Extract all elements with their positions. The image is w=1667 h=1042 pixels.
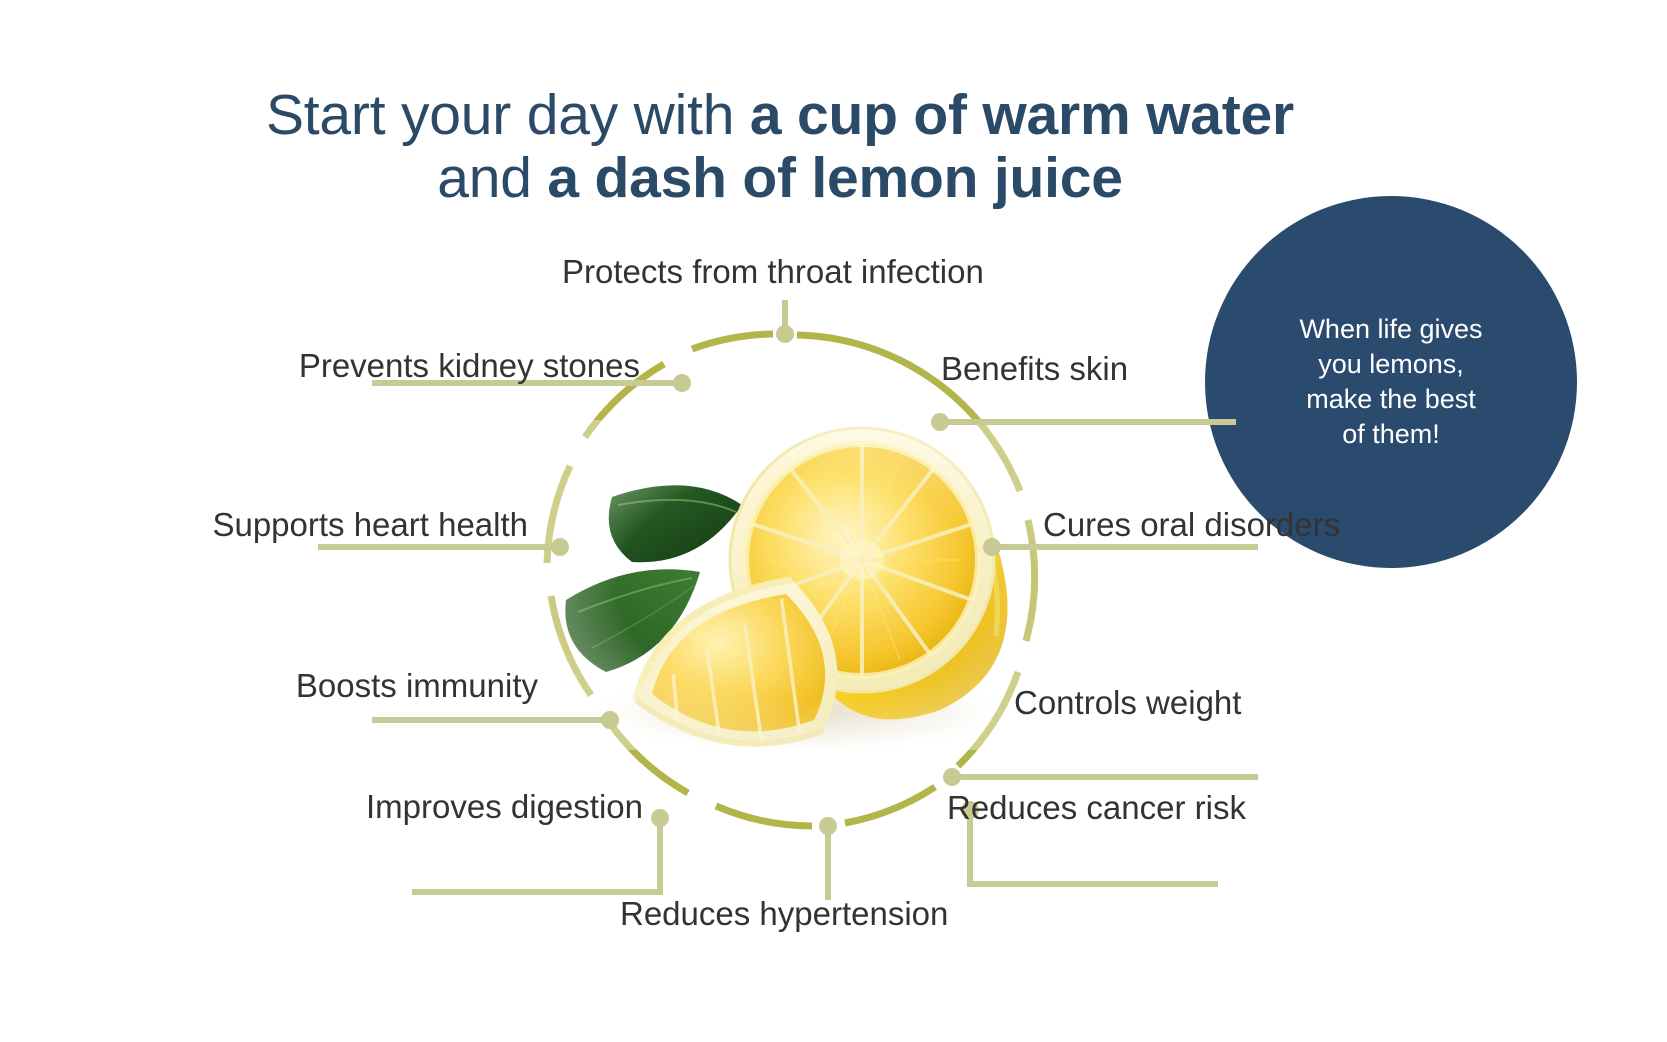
label-protects-throat: Protects from throat infection xyxy=(562,255,984,288)
dot-benefits-skin xyxy=(931,413,949,431)
label-controls-weight: Controls weight xyxy=(1014,686,1241,719)
label-benefits-skin: Benefits skin xyxy=(941,352,1128,385)
dot-reduces-hypertension xyxy=(819,817,837,835)
lemon-photo xyxy=(540,420,1060,754)
label-improves-digestion: Improves digestion xyxy=(366,790,643,823)
label-supports-heart: Supports heart health xyxy=(212,508,528,541)
dot-supports-heart xyxy=(551,538,569,556)
dot-boosts-immunity xyxy=(601,711,619,729)
dot-controls-weight xyxy=(943,768,961,786)
label-boosts-immunity: Boosts immunity xyxy=(296,669,538,702)
dot-improves-digestion xyxy=(651,809,669,827)
dot-protects-throat xyxy=(776,325,794,343)
dot-cures-oral xyxy=(983,538,1001,556)
label-reduces-cancer: Reduces cancer risk xyxy=(947,791,1246,824)
label-cures-oral: Cures oral disorders xyxy=(1043,508,1340,541)
infographic-canvas: Start your day with a cup of warm water … xyxy=(0,0,1667,1042)
connector-improves-digestion xyxy=(412,818,660,892)
dot-prevents-kidney xyxy=(673,374,691,392)
label-reduces-hypertension: Reduces hypertension xyxy=(620,897,948,930)
label-prevents-kidney: Prevents kidney stones xyxy=(299,349,640,382)
